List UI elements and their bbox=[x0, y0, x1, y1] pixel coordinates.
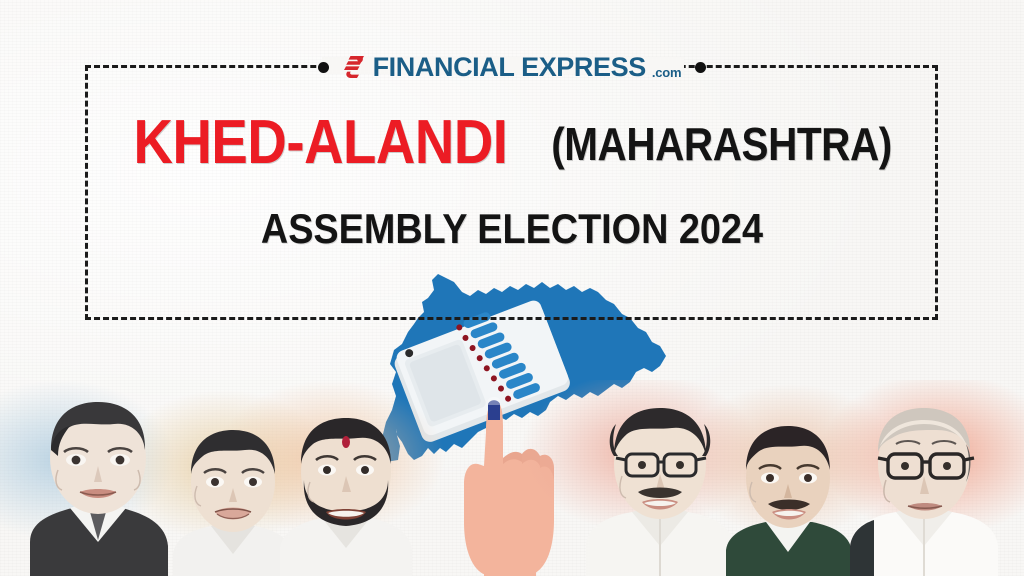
portrait-devendra-fadnavis bbox=[10, 392, 185, 576]
state-name: (MAHARASHTRA) bbox=[551, 121, 892, 167]
subtitle-row: ASSEMBLY ELECTION 2024 bbox=[85, 205, 938, 253]
constituency-name: KHED-ALANDI bbox=[134, 112, 508, 174]
election-banner: FINANCIAL EXPRESS .com KHED-ALANDI(MAHAR… bbox=[0, 0, 1024, 576]
portrait-prithviraj-chavan bbox=[718, 418, 858, 576]
masthead: FINANCIAL EXPRESS .com bbox=[0, 47, 1024, 87]
headline-row: KHED-ALANDI(MAHARASHTRA) bbox=[85, 112, 938, 174]
portrait-sharad-pawar bbox=[840, 400, 1010, 576]
dashed-frame-border bbox=[85, 65, 938, 320]
financial-express-logo[interactable]: FINANCIAL EXPRESS .com bbox=[343, 54, 682, 81]
right-bullet-dot bbox=[695, 62, 706, 73]
portrait-eknath-shinde bbox=[268, 408, 423, 576]
left-bullet-dot bbox=[318, 62, 329, 73]
brand-name: FINANCIAL EXPRESS bbox=[373, 54, 646, 81]
financial-express-s-mark bbox=[343, 54, 366, 80]
page-subtitle: ASSEMBLY ELECTION 2024 bbox=[260, 205, 762, 253]
brand-suffix: .com bbox=[652, 66, 682, 79]
